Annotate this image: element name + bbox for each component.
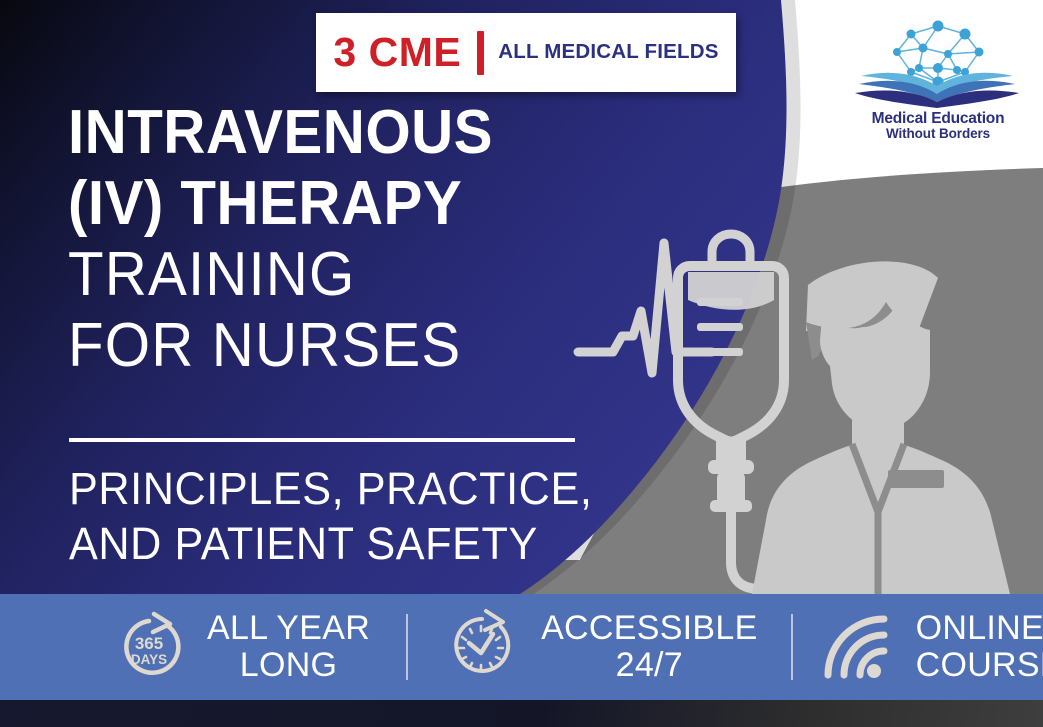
feature-3-line-1: ONLINE (916, 609, 1043, 647)
promotional-banner: 3 CME ALL MEDICAL FIELDS (0, 0, 1043, 727)
feature-3-line-2: COURSE (916, 647, 1043, 684)
feature-accessible-24-7: ACCESSIBLE 24/7 (441, 594, 758, 700)
365-label: 365 (135, 634, 163, 653)
subhead-line-1: PRINCIPLES, PRACTICE, (69, 461, 607, 516)
365-days-circular-arrow-icon: 365 DAYS (110, 608, 188, 686)
feature-2-line-1: ACCESSIBLE (541, 609, 758, 647)
organization-logo: Medical Education Without Borders (843, 14, 1033, 146)
feature-divider-2 (791, 614, 793, 680)
headline-line-2: (IV) THERAPY (68, 168, 576, 239)
feature-3-label: ONLINE COURSE (916, 610, 1043, 684)
feature-bar: 365 DAYS ALL YEAR LONG (0, 594, 1043, 700)
subhead-line-2: AND PATIENT SAFETY (69, 516, 607, 571)
cme-badge: 3 CME ALL MEDICAL FIELDS (316, 13, 736, 92)
logo-line-1: Medical Education (872, 111, 1005, 127)
clock-24-7-icon (441, 607, 521, 687)
wifi-signal-icon (820, 611, 896, 683)
headline-block: INTRAVENOUS (IV) THERAPY TRAINING FOR NU… (68, 97, 608, 381)
feature-2-label: ACCESSIBLE 24/7 (541, 610, 758, 684)
feature-online-course: ONLINE COURSE (820, 594, 1043, 700)
vertical-bar-icon (477, 31, 484, 75)
logo-line-2: Without Borders (886, 127, 990, 142)
feature-2-line-2: 24/7 (541, 647, 758, 684)
headline-line-1: INTRAVENOUS (68, 97, 576, 168)
cme-scope-label: ALL MEDICAL FIELDS (498, 42, 718, 63)
feature-1-label: ALL YEAR LONG (207, 610, 370, 684)
feature-divider-1 (406, 614, 408, 680)
bottom-edge-strip (0, 700, 1043, 727)
cme-credits-label: 3 CME (333, 32, 461, 73)
feature-all-year-long: 365 DAYS ALL YEAR LONG (110, 594, 370, 700)
headline-line-3: TRAINING (68, 239, 576, 310)
feature-1-line-1: ALL YEAR (207, 609, 370, 647)
subhead-block: PRINCIPLES, PRACTICE, AND PATIENT SAFETY (69, 461, 629, 571)
days-label: DAYS (131, 652, 167, 667)
headline-divider-rule (69, 438, 575, 442)
headline-line-4: FOR NURSES (68, 310, 576, 381)
brain-network-open-book-icon (849, 14, 1027, 110)
feature-1-line-2: LONG (207, 647, 370, 684)
